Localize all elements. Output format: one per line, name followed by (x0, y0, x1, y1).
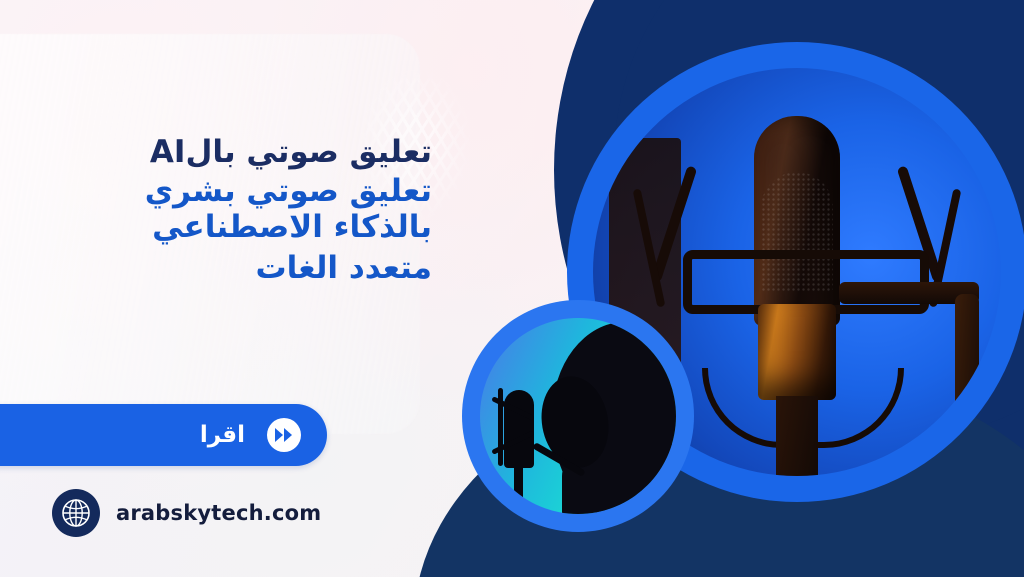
read-more-button[interactable]: اقرا (0, 404, 327, 466)
site-url-label: arabskytech.com (116, 501, 321, 525)
artwork-area (384, 0, 1024, 577)
promo-banner: تعليق صوتي بالAI تعليق صوتي بشري بالذكاء… (0, 0, 1024, 577)
headline-line-2: تعليق صوتي بشري (0, 173, 432, 210)
small-shock-mount-wire-3 (498, 388, 503, 466)
site-footer: arabskytech.com (52, 489, 321, 537)
microphone-stem (776, 396, 818, 476)
silhouette-photo-circle (462, 300, 694, 532)
small-microphone (504, 390, 534, 468)
fast-forward-icon (267, 418, 301, 452)
silhouette-photo (480, 318, 676, 514)
read-more-label: اقرا (200, 422, 245, 448)
headline-block: تعليق صوتي بالAI تعليق صوتي بشري بالذكاء… (0, 134, 432, 286)
headline-line-4: متعدد الغات (0, 250, 432, 287)
boom-arm-vertical (955, 294, 979, 476)
headline-line-3: بالذكاء الاصطناعي (0, 209, 432, 246)
small-microphone-stand (514, 458, 523, 514)
globe-icon (52, 489, 100, 537)
headline-line-1: تعليق صوتي بالAI (0, 134, 432, 171)
